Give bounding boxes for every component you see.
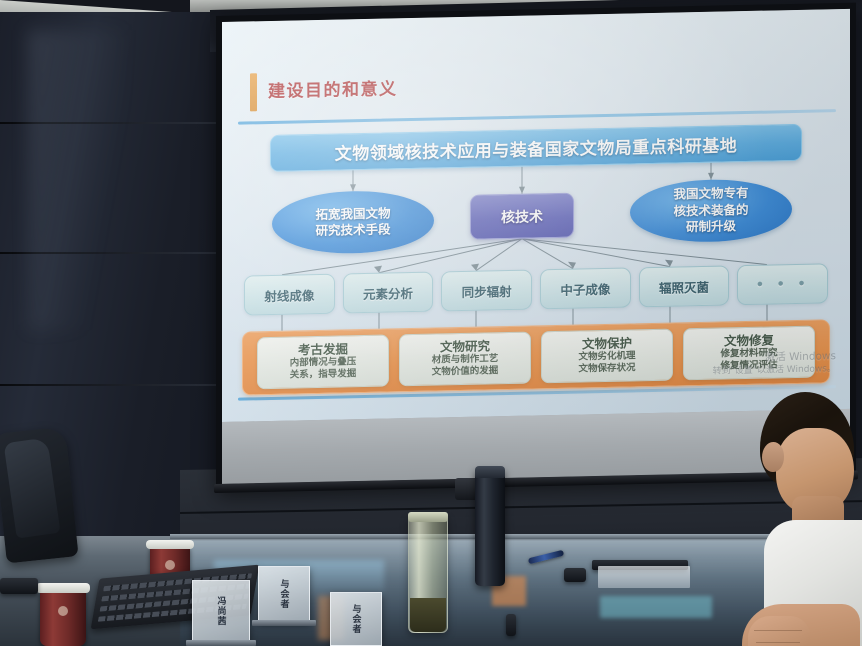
name-placard-0: 冯尚茜 (192, 580, 250, 642)
reflection-cyan (600, 596, 712, 618)
application-sub-1b: 文物价值的发掘 (432, 365, 499, 378)
right-line-3: 研制升级 (686, 218, 736, 234)
application-card-1: 文物研究 材质与制作工艺 文物价值的发掘 (399, 332, 531, 387)
diagram-node-left-text: 拓宽我国文物 研究技术手段 (315, 205, 390, 240)
slide-title: 建设目的和意义 (268, 74, 398, 102)
title-accent-bar (250, 73, 257, 111)
slide-divider-top (238, 109, 836, 125)
small-device (564, 568, 586, 582)
technique-chip-3: 中子成像 (540, 267, 631, 309)
conference-room: 建设目的和意义 (0, 0, 862, 646)
technique-chip-2: 同步辐射 (441, 270, 532, 312)
application-title-1: 文物研究 (440, 339, 490, 354)
thermos-cap (475, 466, 505, 478)
seated-attendee (742, 392, 862, 646)
coffee-cup-left-lid (36, 583, 90, 593)
thermos-flask (475, 468, 505, 586)
desk-clip (506, 614, 516, 636)
coffee-cup-left (40, 590, 86, 646)
technique-chip-4: 辐照灭菌 (639, 265, 730, 307)
desk-object-left (0, 578, 38, 594)
application-title-2: 文物保护 (582, 336, 632, 351)
application-title-0: 考古发掘 (298, 342, 348, 357)
application-title-3: 文物修复 (724, 333, 774, 348)
technique-chip-0: 射线成像 (244, 274, 335, 316)
tea-leaves (410, 598, 446, 632)
technique-chip-1: 元素分析 (343, 272, 434, 314)
technique-chip-ellipsis: • • • (737, 263, 828, 305)
diagram-root-node: 文物领域核技术应用与装备国家文物局重点科研基地 (270, 124, 802, 172)
coffee-cup-center-logo (165, 560, 175, 570)
coffee-cup-center-lid (146, 540, 194, 549)
glass-tea-jar-lid (408, 512, 448, 522)
application-card-0: 考古发掘 内部情况与叠压 关系，指导发掘 (257, 335, 389, 390)
left-line-2: 研究技术手段 (315, 221, 390, 238)
name-placard-2: 与会者 (330, 592, 382, 646)
windows-activation-watermark: 激活 Windows 转到"设置"以激活 Windows。 (626, 349, 836, 380)
right-line-2: 核技术装备的 (673, 202, 748, 219)
technique-row: 射线成像 元素分析 同步辐射 中子成像 辐照灭菌 • • • (244, 263, 828, 315)
diagram-node-right-text: 我国文物专有 核技术装备的 研制升级 (673, 185, 748, 236)
name-placard-1: 与会者 (258, 566, 310, 622)
left-line-1: 拓宽我国文物 (315, 205, 390, 222)
diagram-node-left: 拓宽我国文物 研究技术手段 (272, 190, 434, 255)
coffee-cup-left-logo (58, 606, 68, 616)
diagram-node-right: 我国文物专有 核技术装备的 研制升级 (630, 178, 792, 243)
attendee-hand (748, 616, 810, 646)
presentation-slide: 建设目的和意义 (222, 9, 850, 422)
diagram-node-core: 核技术 (470, 193, 574, 240)
paper-sheet (598, 566, 690, 588)
attendee-ear (762, 442, 784, 472)
right-line-1: 我国文物专有 (673, 185, 748, 202)
name-placard-1-base (252, 620, 316, 626)
application-sub-0b: 关系，指导发掘 (290, 368, 357, 381)
name-placard-0-base (186, 640, 256, 646)
